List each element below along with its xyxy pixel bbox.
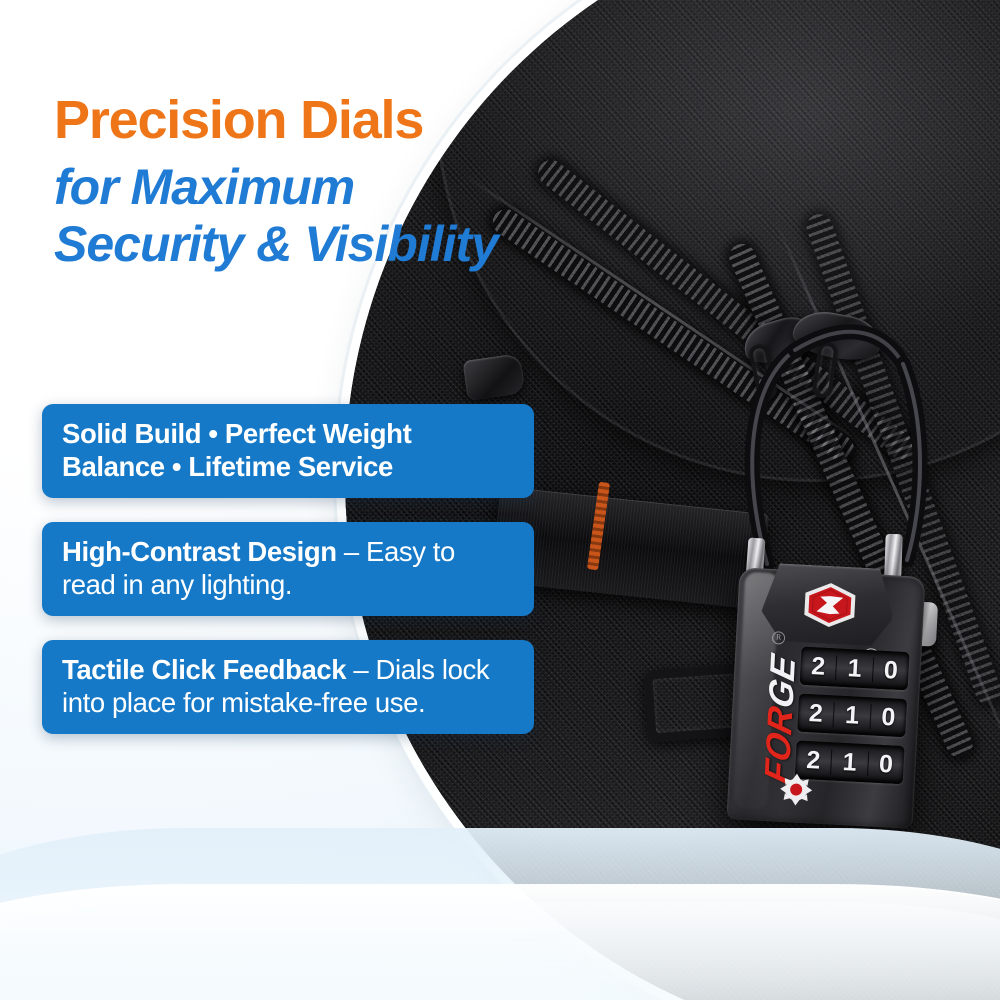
headline-block: Precision Dials for Maximum Security & V… (54, 92, 498, 273)
infographic-canvas: R R FORGE 2 1 0 2 1 0 (0, 0, 1000, 1000)
feature-callout-list: Solid Build • Perfect Weight Balance • L… (42, 404, 534, 734)
feature-callout: Solid Build • Perfect Weight Balance • L… (42, 404, 534, 498)
dial-digit[interactable]: 0 (868, 751, 905, 778)
tsa-approved-diamond-logo-icon (799, 581, 861, 630)
shackle-post-right (884, 534, 902, 577)
feature-callout-lead: Tactile Click Feedback (62, 654, 346, 685)
feature-callout-lead: Solid Build • Perfect Weight Balance • L… (62, 418, 411, 482)
feature-callout: Tactile Click Feedback – Dials lock into… (42, 640, 534, 734)
combination-padlock: R R FORGE 2 1 0 2 1 0 (727, 567, 926, 828)
dial-digit[interactable]: 1 (831, 749, 869, 776)
brand-text-white: GE (762, 650, 803, 712)
headline-line-1: Precision Dials (54, 92, 498, 149)
feature-callout-lead: High-Contrast Design (62, 536, 337, 567)
feature-callout: High-Contrast Design – Easy to read in a… (42, 522, 534, 616)
dial-row[interactable]: 2 1 0 (800, 647, 910, 691)
dial-digit[interactable]: 0 (873, 657, 910, 684)
cable-shackle-icon (645, 292, 1000, 592)
dial-digit[interactable]: 2 (800, 653, 838, 680)
dial-digit[interactable]: 1 (834, 702, 872, 729)
dial-digit[interactable]: 2 (795, 747, 833, 774)
dial-digit[interactable]: 0 (870, 704, 907, 731)
forge-gear-emblem-icon (775, 772, 817, 808)
combination-dial-stack[interactable]: 2 1 0 2 1 0 2 1 0 (794, 647, 909, 793)
headline-line-3: Security & Visibility (54, 216, 498, 273)
dial-digit[interactable]: 2 (798, 700, 836, 727)
dial-row[interactable]: 2 1 0 (797, 694, 907, 738)
headline-line-2: for Maximum (54, 159, 498, 216)
dial-digit[interactable]: 1 (836, 655, 874, 682)
